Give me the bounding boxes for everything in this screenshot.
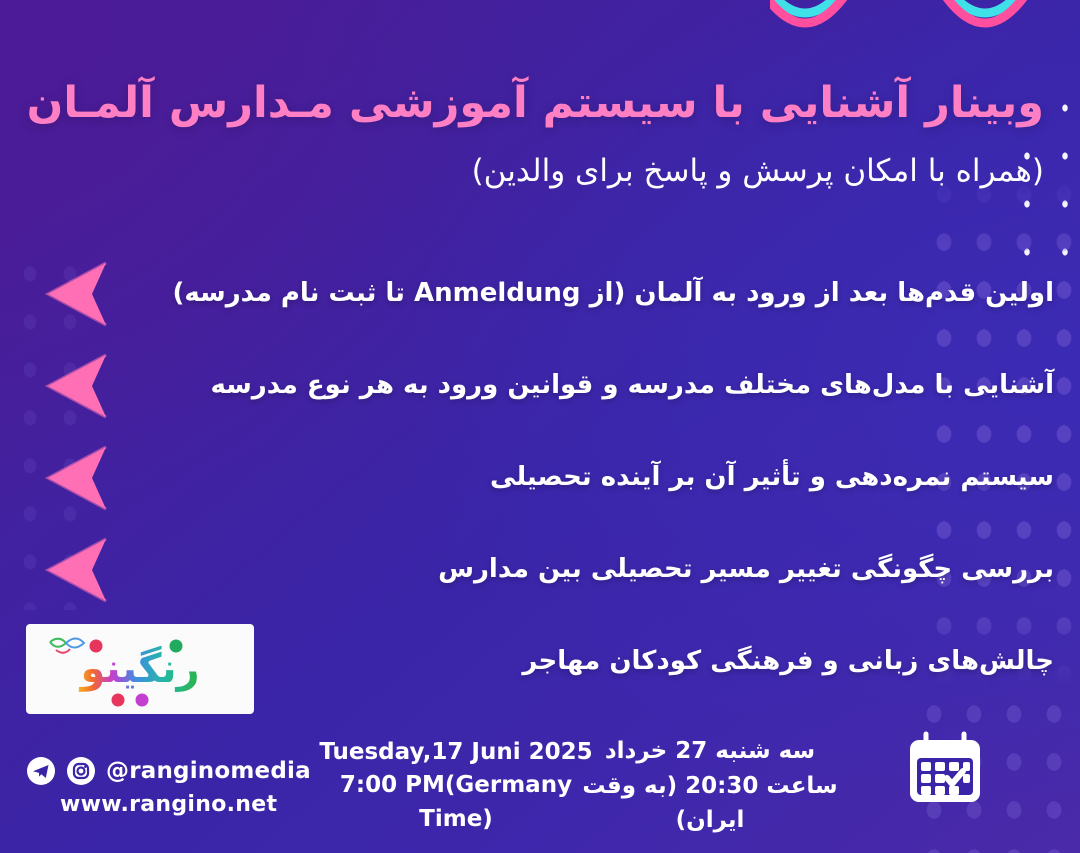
chevron-left-icon [36, 349, 114, 423]
brand-logo: رنگینو [26, 624, 254, 714]
topic-text: بررسی چگونگی تغییر مسیر تحصیلی بین مدارس [128, 552, 1054, 587]
schedule-english: Tuesday,17 Juni 2025 7:00 PM(Germany Tim… [316, 736, 596, 836]
chevron-left-icon [36, 533, 114, 607]
webinar-poster: وبینار آشنایی با سیستم آموزشی مـدارس آلم… [0, 0, 1080, 853]
telegram-icon[interactable] [26, 756, 56, 786]
schedule-en-date: Tuesday,17 Juni 2025 [316, 736, 596, 769]
list-item: آشنایی با مدل‌های مختلف مدرسه و قوانین و… [36, 340, 1054, 432]
topic-text: اولین قدم‌ها بعد از ورود به آلمان (از An… [128, 276, 1054, 311]
poster-title: وبینار آشنایی با سیستم آموزشی مـدارس آلم… [36, 78, 1044, 129]
instagram-icon[interactable] [66, 756, 96, 786]
poster-subtitle: (همراه با امکان پرسش و پاسخ برای والدین) [36, 151, 1044, 191]
rangino-logo-mark: رنگینو [26, 624, 254, 714]
topic-text: سیستم نمره‌دهی و تأثیر آن بر آینده تحصیل… [128, 460, 1054, 495]
website-url[interactable]: www.rangino.net [60, 792, 277, 817]
chevron-left-icon [36, 441, 114, 515]
chevron-left-icon [36, 257, 114, 331]
topic-text: چالش‌های زبانی و فرهنگی کودکان مهاجر [128, 644, 1054, 679]
schedule-fa-time: ساعت 20:30 (به وقت ایران) [580, 769, 840, 838]
wave-decoration [770, 0, 1080, 54]
schedule-fa-date: سه شنبه 27 خرداد [580, 734, 840, 769]
list-item: بررسی چگونگی تغییر مسیر تحصیلی بین مدارس [36, 524, 1054, 616]
schedule-en-time: 7:00 PM(Germany Time) [316, 769, 596, 836]
list-item: سیستم نمره‌دهی و تأثیر آن بر آینده تحصیل… [36, 432, 1054, 524]
topic-text: آشنایی با مدل‌های مختلف مدرسه و قوانین و… [128, 368, 1054, 403]
calendar-check-icon [902, 726, 988, 810]
social-handle[interactable]: @ranginomedia [106, 758, 311, 784]
list-item: اولین قدم‌ها بعد از ورود به آلمان (از An… [36, 248, 1054, 340]
social-links[interactable]: @ranginomedia [26, 756, 311, 786]
poster-header: وبینار آشنایی با سیستم آموزشی مـدارس آلم… [36, 78, 1044, 191]
schedule-persian: سه شنبه 27 خرداد ساعت 20:30 (به وقت ایرا… [580, 734, 840, 838]
